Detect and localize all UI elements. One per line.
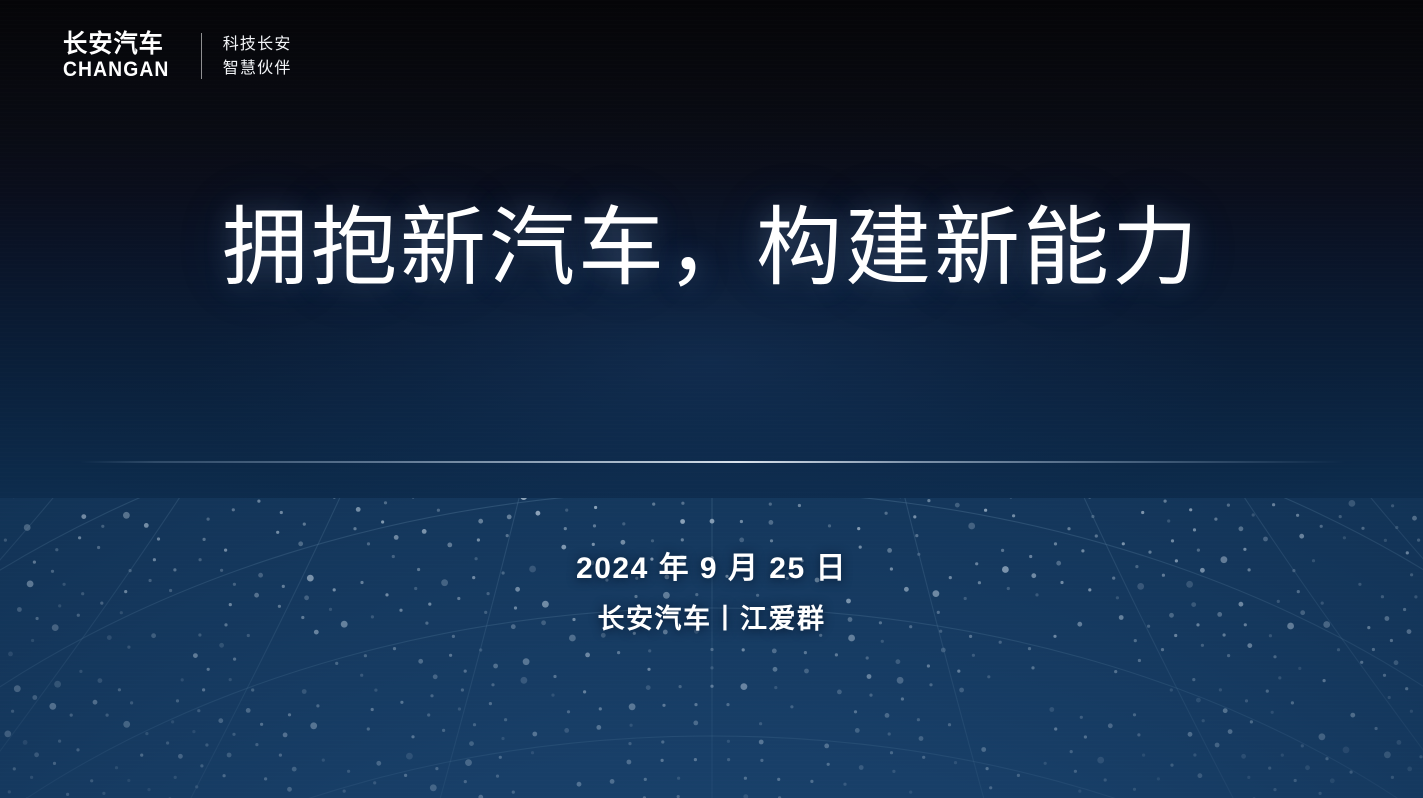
scanline-overlay [0, 0, 1423, 798]
tagline-line-1: 科技长安 [223, 36, 292, 53]
logo-brand-cn: 长安汽车 [63, 31, 175, 57]
grid-dots [0, 498, 1423, 798]
logo-brand-en: CHANGAN [63, 58, 169, 81]
horizontal-divider [80, 461, 1345, 463]
globe-svg [0, 498, 1423, 798]
presentation-date: 2024 年 9 月 25 日 [0, 549, 1423, 589]
longitude-lines [0, 498, 1423, 798]
globe-surface [0, 498, 1423, 798]
presenter-name: 长安汽车丨江爱群 [0, 601, 1423, 637]
brand-logo[interactable]: 长安汽车 CHANGAN 科技长安 智慧伙伴 [63, 31, 292, 81]
latitude-lines [0, 498, 1423, 798]
logo-mark: 长安汽车 CHANGAN [63, 31, 201, 81]
slide-title: 拥抱新汽车，构建新能力 [0, 196, 1423, 300]
background-glow [62, 60, 1362, 580]
tagline-line-2: 智慧伙伴 [223, 60, 292, 77]
presentation-slide: 长安汽车 CHANGAN 科技长安 智慧伙伴 拥抱新汽车，构建新能力 2024 … [0, 0, 1423, 798]
globe-body [0, 498, 1423, 798]
slide-footer: 2024 年 9 月 25 日 长安汽车丨江爱群 [0, 549, 1423, 637]
globe-rim [0, 498, 1423, 798]
digital-globe-graphic [0, 498, 1423, 798]
logo-tagline: 科技长安 智慧伙伴 [202, 31, 292, 81]
